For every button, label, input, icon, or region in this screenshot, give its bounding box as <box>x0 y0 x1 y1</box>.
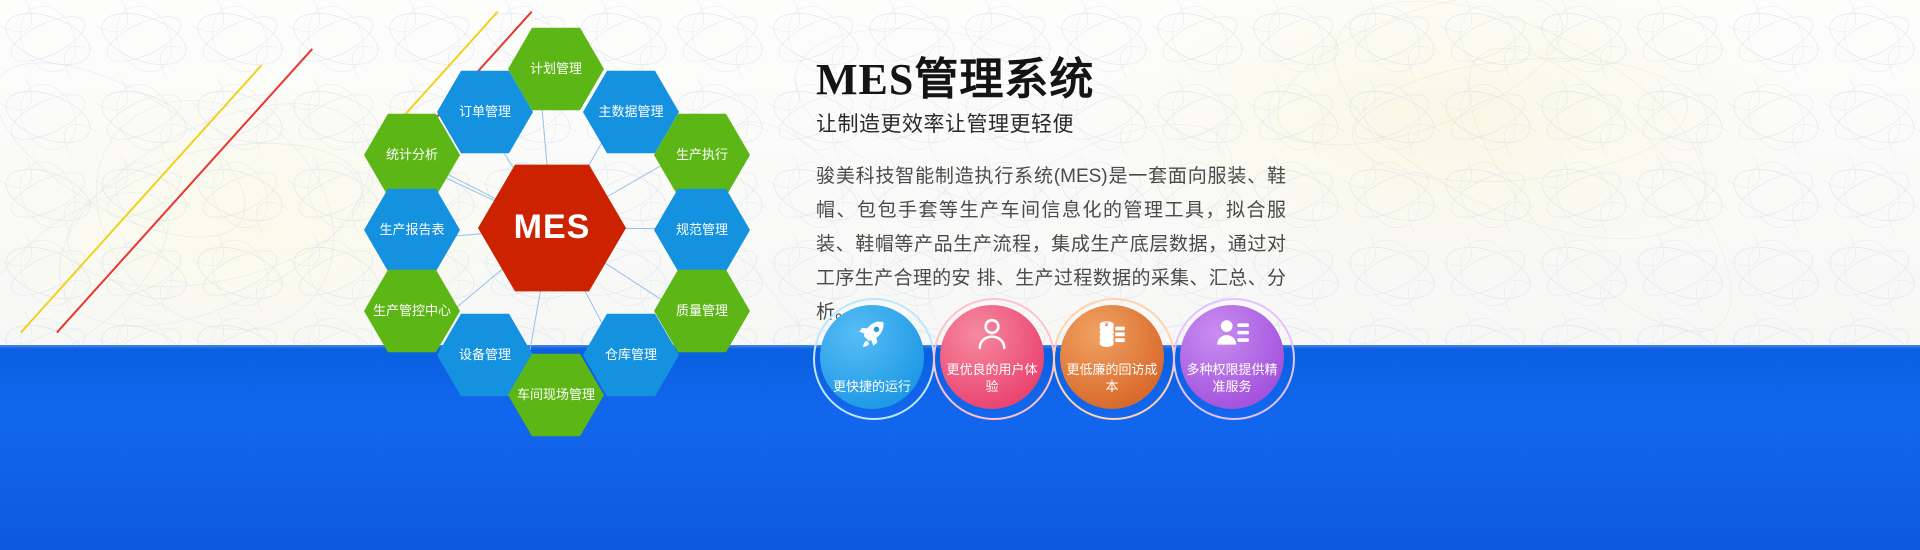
hex-node-standard[interactable]: 规范管理 <box>654 187 750 273</box>
user-icon <box>975 317 1009 351</box>
page-title: MES管理系统 <box>816 56 1516 104</box>
hex-node-center[interactable]: MES <box>478 162 626 294</box>
hex-label: 计划管理 <box>524 62 588 77</box>
svg-text:¥: ¥ <box>1105 322 1109 329</box>
hex-label: 统计分析 <box>380 148 444 163</box>
hex-label: 生产管控中心 <box>367 304 457 319</box>
permission-icon <box>1215 317 1249 351</box>
hex-label: 生产报告表 <box>373 223 450 238</box>
badge-faster-operation[interactable]: 更快捷的运行 <box>820 305 924 409</box>
badge-label: 更优良的用户体验 <box>946 361 1038 395</box>
hex-label: 订单管理 <box>453 105 517 120</box>
hero-text-block: MES管理系统 让制造更效率让管理更轻便 骏美科技智能制造执行系统(MES)是一… <box>816 56 1516 330</box>
coins-icon: ¥ <box>1095 317 1129 351</box>
hex-center-label: MES <box>508 208 597 247</box>
hex-node-report[interactable]: 生产报告表 <box>364 187 460 273</box>
hex-label: 主数据管理 <box>592 105 669 120</box>
hex-label: 设备管理 <box>453 348 517 363</box>
hero-banner: MES 计划管理 订单管理 主数据管理 统计分析 生产执行 生产报告表 规范管理… <box>0 0 1920 550</box>
badge-permissions[interactable]: 多种权限提供精准服务 <box>1180 305 1284 409</box>
hex-label: 规范管理 <box>670 223 734 238</box>
badge-label: 更快捷的运行 <box>826 378 918 395</box>
badge-lower-cost[interactable]: ¥ 更低廉的回访成本 <box>1060 305 1164 409</box>
mes-hexagon-diagram: MES 计划管理 订单管理 主数据管理 统计分析 生产执行 生产报告表 规范管理… <box>0 0 820 460</box>
feature-badges: 更快捷的运行 更优良的用户体验 <box>820 305 1284 409</box>
rocket-icon <box>855 317 889 351</box>
page-subtitle: 让制造更效率让管理更轻便 <box>816 108 1516 138</box>
badge-label: 更低廉的回访成本 <box>1066 361 1158 395</box>
hex-label: 车间现场管理 <box>511 388 601 403</box>
badge-better-experience[interactable]: 更优良的用户体验 <box>940 305 1044 409</box>
badge-label: 多种权限提供精准服务 <box>1186 361 1278 395</box>
hex-label: 仓库管理 <box>599 348 663 363</box>
hex-label: 生产执行 <box>670 148 734 163</box>
hex-label: 质量管理 <box>670 304 734 319</box>
